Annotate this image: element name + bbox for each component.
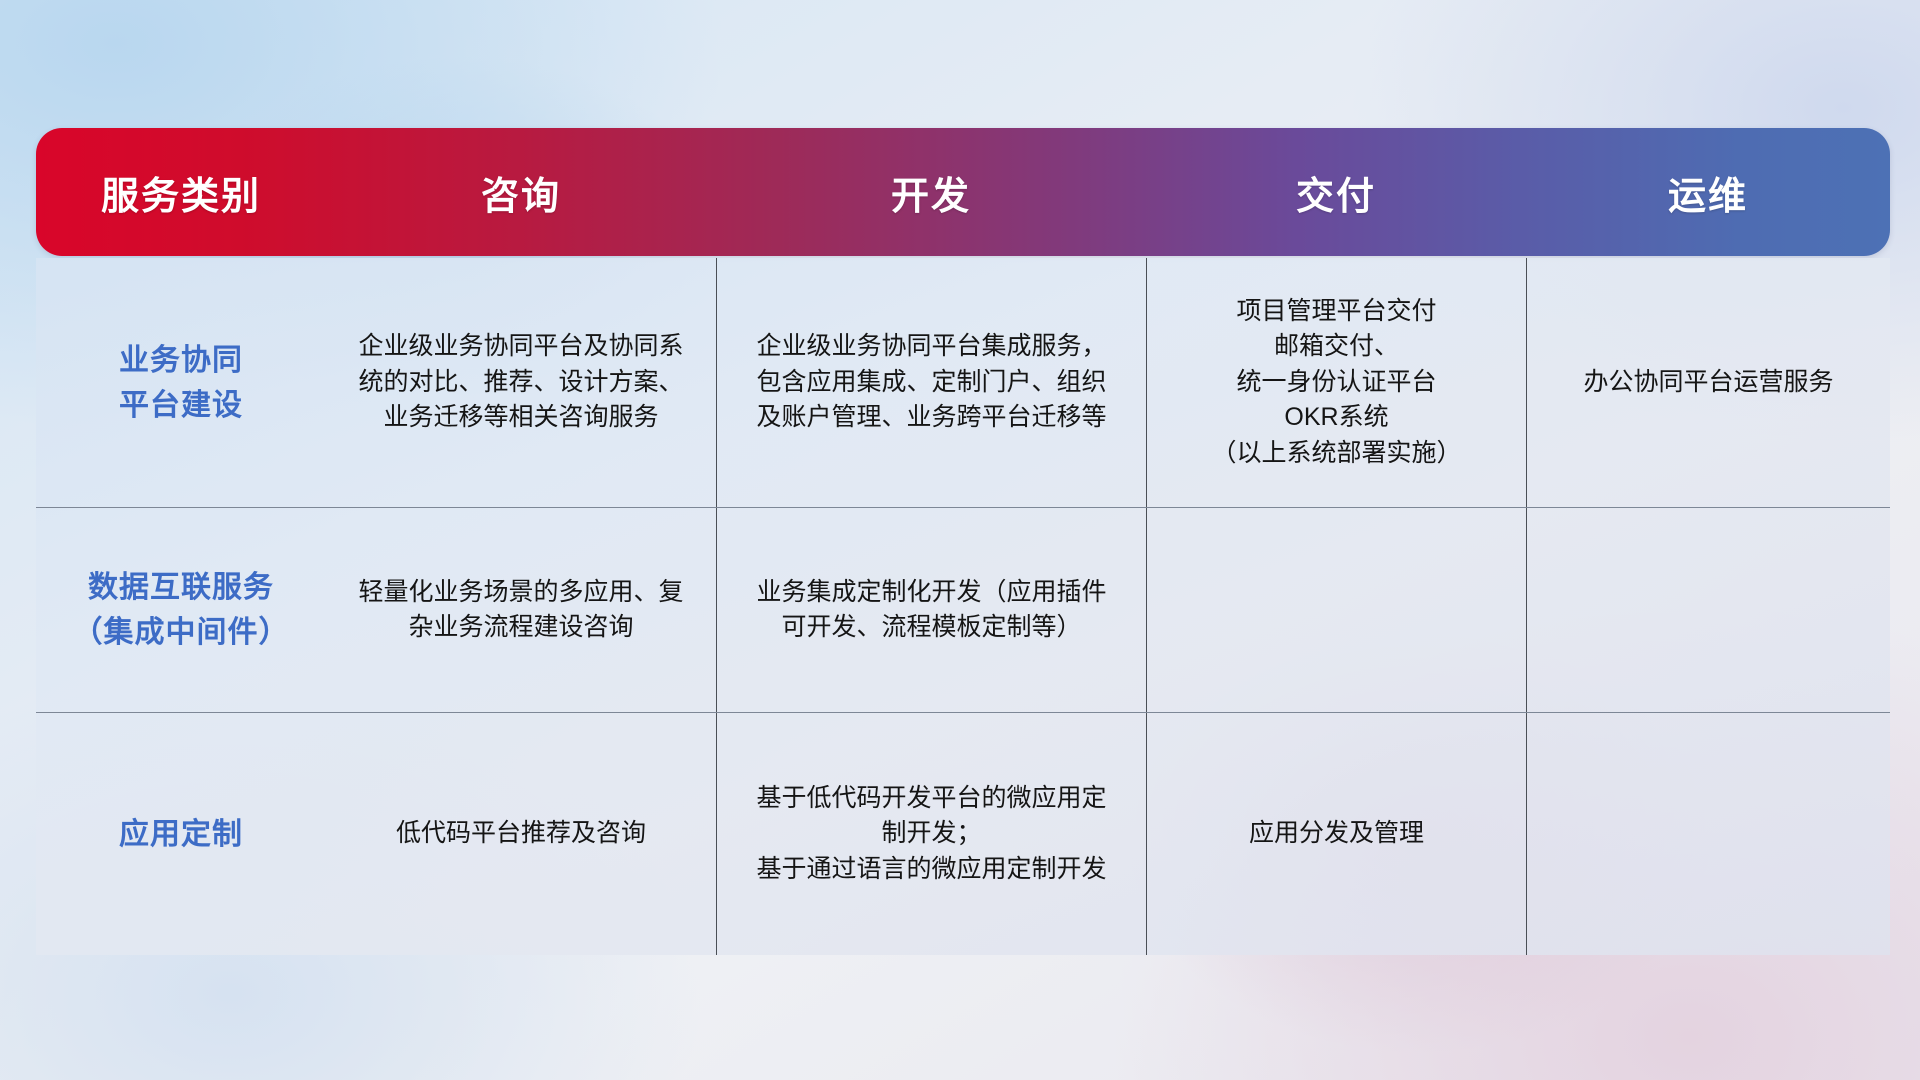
cell-development: 业务集成定制化开发（应用插件 可开发、流程模板定制等） bbox=[716, 508, 1146, 712]
header-cell-service-category: 服务类别 bbox=[36, 128, 326, 256]
header-label-development: 开发 bbox=[891, 165, 971, 220]
header-cell-consulting: 咨询 bbox=[326, 128, 716, 256]
cell-operations bbox=[1526, 713, 1890, 955]
row-category-label: 数据互联服务 （集成中间件） bbox=[36, 508, 326, 712]
cell-delivery: 项目管理平台交付 邮箱交付、 统一身份认证平台 OKR系统 （以上系统部署实施） bbox=[1146, 258, 1526, 507]
table-header-row: 服务类别 咨询 开发 交付 运维 bbox=[36, 128, 1890, 256]
service-category-table: 服务类别 咨询 开发 交付 运维 业务协同 平台建设 企业级业务协同平台及协同系… bbox=[36, 128, 1890, 958]
cell-development: 基于低代码开发平台的微应用定 制开发； 基于通过语言的微应用定制开发 bbox=[716, 713, 1146, 955]
cell-consulting: 低代码平台推荐及咨询 bbox=[326, 713, 716, 955]
cell-operations bbox=[1526, 508, 1890, 712]
cell-consulting: 轻量化业务场景的多应用、复 杂业务流程建设咨询 bbox=[326, 508, 716, 712]
header-label-operations: 运维 bbox=[1668, 165, 1748, 220]
header-cell-delivery: 交付 bbox=[1146, 128, 1526, 256]
cell-delivery bbox=[1146, 508, 1526, 712]
cell-development: 企业级业务协同平台集成服务， 包含应用集成、定制门户、组织 及账户管理、业务跨平… bbox=[716, 258, 1146, 507]
header-cell-development: 开发 bbox=[716, 128, 1146, 256]
cell-operations: 办公协同平台运营服务 bbox=[1526, 258, 1890, 507]
header-label-delivery: 交付 bbox=[1296, 165, 1376, 220]
cell-consulting: 企业级业务协同平台及协同系 统的对比、推荐、设计方案、 业务迁移等相关咨询服务 bbox=[326, 258, 716, 507]
header-label-service-category: 服务类别 bbox=[101, 165, 261, 220]
row-category-label: 业务协同 平台建设 bbox=[36, 258, 326, 507]
table-row: 业务协同 平台建设 企业级业务协同平台及协同系 统的对比、推荐、设计方案、 业务… bbox=[36, 258, 1890, 508]
table-row: 数据互联服务 （集成中间件） 轻量化业务场景的多应用、复 杂业务流程建设咨询 业… bbox=[36, 508, 1890, 713]
header-label-consulting: 咨询 bbox=[481, 165, 561, 220]
table-body: 业务协同 平台建设 企业级业务协同平台及协同系 统的对比、推荐、设计方案、 业务… bbox=[36, 258, 1890, 955]
cell-delivery: 应用分发及管理 bbox=[1146, 713, 1526, 955]
row-category-label: 应用定制 bbox=[36, 713, 326, 955]
table-row: 应用定制 低代码平台推荐及咨询 基于低代码开发平台的微应用定 制开发； 基于通过… bbox=[36, 713, 1890, 955]
header-cell-operations: 运维 bbox=[1526, 128, 1890, 256]
